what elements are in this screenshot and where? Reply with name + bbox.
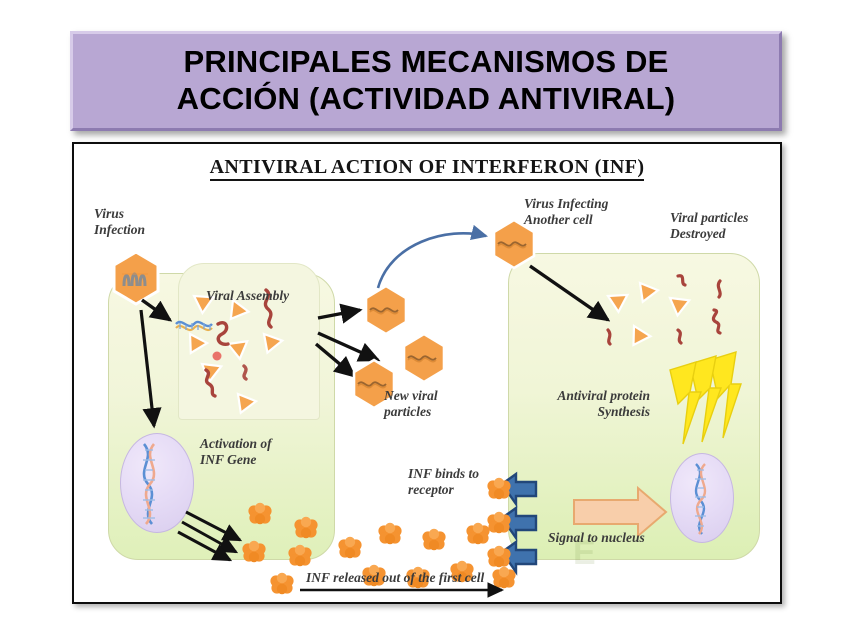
arrow-assembly-1 — [318, 310, 360, 318]
signal-to-nucleus-arrow — [574, 488, 666, 536]
label-inf-released: INF released out of the first cell — [306, 570, 484, 586]
label-inf-binds-receptor: INF binds to receptor — [408, 466, 479, 498]
label-virus-infecting-another: Virus Infecting Another cell — [524, 196, 608, 228]
label-antiviral-protein-synthesis: Antiviral protein Synthesis — [526, 388, 650, 420]
arrows-inf-production — [178, 512, 240, 560]
released-viral-genome — [176, 322, 212, 330]
arrow-to-nucleus — [141, 310, 154, 426]
arrow-assembly-2 — [318, 333, 378, 360]
slide-title-banner: PRINCIPALES MECANISMOS DE ACCIÓN (ACTIVI… — [70, 31, 782, 131]
page-title: PRINCIPALES MECANISMOS DE ACCIÓN (ACTIVI… — [163, 44, 690, 117]
diagram-canvas: ANTIVIRAL ACTION OF INTERFERON (INF) — [78, 148, 776, 598]
arrow-virus-to-next-cell — [378, 233, 486, 288]
nucleus-left-dna — [143, 444, 155, 524]
virus-particle-infecting — [114, 252, 158, 304]
new-viral-particle-2 — [404, 334, 444, 382]
viral-assembly-contents — [185, 290, 283, 415]
label-virus-infection: Virus Infection — [94, 206, 145, 238]
page-title-line-2: ACCIÓN (ACTIVIDAD ANTIVIRAL) — [177, 81, 676, 118]
label-activation-inf-gene: Activation of INF Gene — [200, 436, 272, 468]
label-viral-assembly: Viral Assembly — [206, 288, 289, 304]
nucleus-right-dna — [695, 464, 706, 534]
page-title-line-1: PRINCIPALES MECANISMOS DE — [177, 44, 676, 81]
antiviral-protein-spikes — [670, 352, 741, 444]
label-viral-particles-destroyed: Viral particles Destroyed — [670, 210, 748, 242]
label-signal-to-nucleus: Signal to nucleus — [548, 530, 645, 546]
destroyed-viral-particles — [608, 276, 720, 350]
arrow-assembly-3 — [316, 344, 354, 376]
cell-receptors — [487, 474, 536, 572]
new-viral-particle-1 — [366, 286, 406, 334]
arrow-virus-to-genome — [142, 300, 170, 320]
label-new-viral-particles: New viral particles — [384, 388, 438, 420]
arrow-into-neighbour-cell — [530, 266, 608, 320]
signal-dot — [213, 352, 222, 361]
diagram-frame: ANTIVIRAL ACTION OF INTERFERON (INF) — [72, 142, 782, 604]
